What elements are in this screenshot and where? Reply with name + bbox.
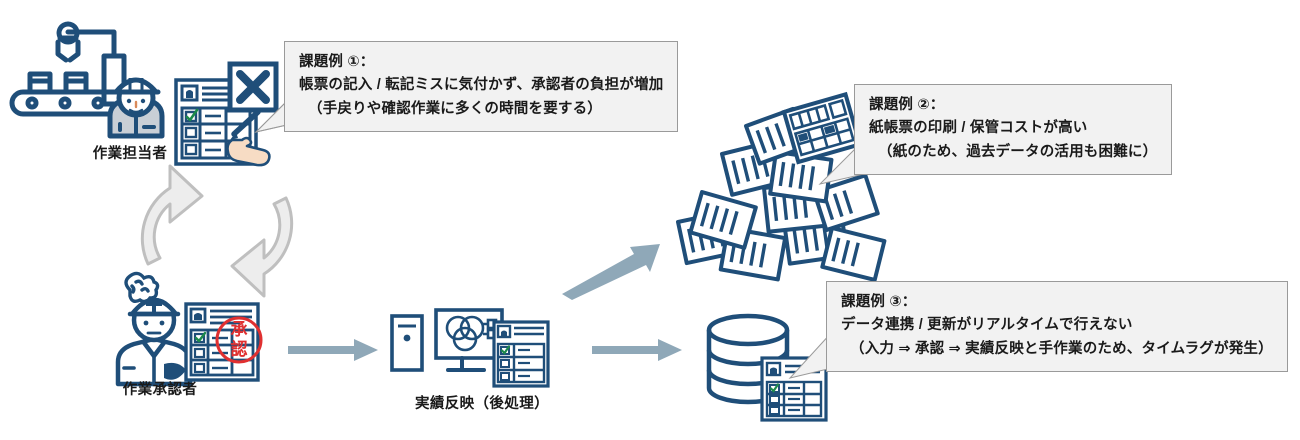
callout-3-line2: （入力 ⇒ 承認 ⇒ 実績反映と手作業のため、タイムラグが発生）	[841, 338, 1273, 361]
callout-1-heading: 課題例 ①：	[299, 51, 663, 74]
callout-1: 課題例 ①： 帳票の記入 / 転記ミスに気付かず、承認者の負担が増加 （手戻りや…	[284, 41, 678, 132]
svg-text:認: 認	[231, 339, 248, 360]
factory-worker-icon	[8, 18, 173, 138]
callout-1-line1: 帳票の記入 / 転記ミスに気付かず、承認者の負担が増加	[299, 74, 663, 97]
callout-2-heading: 課題例 ②：	[869, 94, 1157, 117]
computer-posting-icon	[390, 306, 550, 390]
stamped-form-icon: 承 認	[184, 300, 280, 382]
caption-posting: 実績反映（後処理）	[392, 392, 572, 413]
arrow-approver-to-computer	[288, 338, 380, 362]
callout-2: 課題例 ②： 紙帳票の印刷 / 保管コストが高い （紙のため、過去データの活用も…	[854, 84, 1172, 175]
callout-3-heading: 課題例 ③：	[841, 291, 1273, 314]
callout-3: 課題例 ③： データ連携 / 更新がリアルタイムで行えない （入力 ⇒ 承認 ⇒…	[826, 281, 1288, 372]
arrow-computer-to-database	[592, 338, 684, 362]
callout-2-line2: （紙のため、過去データの活用も困難に）	[869, 141, 1157, 164]
diagram-canvas: 作業担当者	[0, 0, 1300, 440]
callout-3-line1: データ連携 / 更新がリアルタイムで行えない	[841, 314, 1273, 337]
callout-1-line2: （手戻りや確認作業に多くの時間を要する）	[299, 98, 663, 121]
svg-text:承: 承	[231, 320, 248, 340]
arrow-to-paper-pile	[560, 236, 670, 302]
callout-2-line1: 紙帳票の印刷 / 保管コストが高い	[869, 117, 1157, 140]
